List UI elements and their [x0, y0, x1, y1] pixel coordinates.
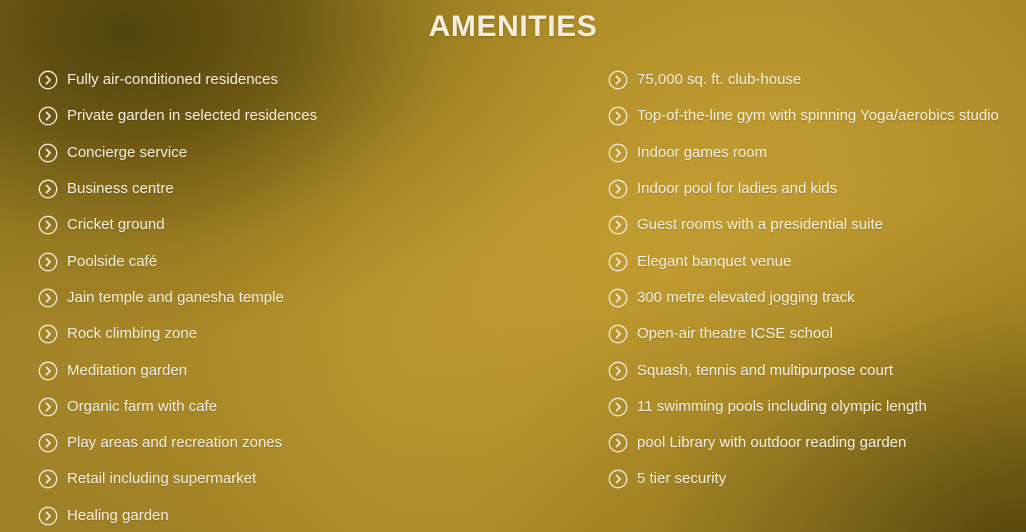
amenity-label: Private garden in selected residences [67, 107, 317, 125]
amenity-label: 300 metre elevated jogging track [637, 289, 855, 307]
circle-chevron-right-icon [608, 361, 628, 381]
circle-chevron-right-icon [38, 215, 58, 235]
circle-chevron-right-icon [38, 361, 58, 381]
amenity-label: Cricket ground [67, 216, 165, 234]
circle-chevron-right-icon [38, 106, 58, 126]
circle-chevron-right-icon [38, 252, 58, 272]
amenity-label: 5 tier security [637, 470, 726, 488]
amenity-label: Healing garden [67, 507, 169, 525]
circle-chevron-right-icon [38, 469, 58, 489]
circle-chevron-right-icon [608, 215, 628, 235]
amenity-label: Business centre [67, 180, 174, 198]
amenities-section: AMENITIES Fully air-conditioned residenc… [0, 0, 1026, 532]
amenity-label: pool Library with outdoor reading garden [637, 434, 906, 452]
amenities-column-left: Fully air-conditioned residencesPrivate … [38, 62, 578, 532]
amenity-label: Rock climbing zone [67, 325, 197, 343]
amenity-item[interactable]: Business centre [38, 171, 578, 207]
amenity-label: Retail including supermarket [67, 470, 256, 488]
amenity-label: 11 swimming pools including olympic leng… [637, 398, 927, 416]
circle-chevron-right-icon [608, 433, 628, 453]
circle-chevron-right-icon [608, 324, 628, 344]
amenity-item[interactable]: Open-air theatre ICSE school [608, 316, 1013, 352]
amenity-item[interactable]: 5 tier security [608, 461, 1013, 497]
amenity-label: Meditation garden [67, 362, 187, 380]
amenity-item[interactable]: Healing garden [38, 498, 578, 532]
amenity-item[interactable]: 11 swimming pools including olympic leng… [608, 389, 1013, 425]
amenity-label: 75,000 sq. ft. club-house [637, 71, 801, 89]
amenity-item[interactable]: 75,000 sq. ft. club-house [608, 62, 1013, 98]
amenity-item[interactable]: Fully air-conditioned residences [38, 62, 578, 98]
circle-chevron-right-icon [608, 252, 628, 272]
amenity-item[interactable]: Private garden in selected residences [38, 98, 578, 134]
circle-chevron-right-icon [38, 143, 58, 163]
circle-chevron-right-icon [38, 397, 58, 417]
amenity-item[interactable]: Indoor games room [608, 135, 1013, 171]
amenity-item[interactable]: Cricket ground [38, 207, 578, 243]
amenity-label: Play areas and recreation zones [67, 434, 282, 452]
amenity-item[interactable]: Top-of-the-line gym with spinning Yoga/a… [608, 98, 1013, 134]
amenity-item[interactable]: pool Library with outdoor reading garden [608, 425, 1013, 461]
amenity-item[interactable]: Rock climbing zone [38, 316, 578, 352]
page-title: AMENITIES [0, 10, 1026, 44]
amenity-item[interactable]: Retail including supermarket [38, 461, 578, 497]
amenity-item[interactable]: Organic farm with cafe [38, 389, 578, 425]
circle-chevron-right-icon [608, 106, 628, 126]
amenity-item[interactable]: Squash, tennis and multipurpose court [608, 352, 1013, 388]
amenity-item[interactable]: Poolside café [38, 243, 578, 279]
circle-chevron-right-icon [608, 397, 628, 417]
circle-chevron-right-icon [608, 469, 628, 489]
circle-chevron-right-icon [38, 506, 58, 526]
circle-chevron-right-icon [608, 288, 628, 308]
circle-chevron-right-icon [38, 179, 58, 199]
circle-chevron-right-icon [608, 179, 628, 199]
amenity-label: Poolside café [67, 253, 157, 271]
circle-chevron-right-icon [38, 324, 58, 344]
circle-chevron-right-icon [38, 433, 58, 453]
amenity-label: Jain temple and ganesha temple [67, 289, 284, 307]
amenity-label: Elegant banquet venue [637, 253, 791, 271]
amenity-label: Open-air theatre ICSE school [637, 325, 833, 343]
circle-chevron-right-icon [608, 143, 628, 163]
amenity-item[interactable]: Elegant banquet venue [608, 243, 1013, 279]
circle-chevron-right-icon [38, 288, 58, 308]
amenity-item[interactable]: Meditation garden [38, 352, 578, 388]
amenity-label: Concierge service [67, 144, 187, 162]
amenity-item[interactable]: Guest rooms with a presidential suite [608, 207, 1013, 243]
circle-chevron-right-icon [608, 70, 628, 90]
amenity-label: Guest rooms with a presidential suite [637, 216, 883, 234]
amenity-label: Squash, tennis and multipurpose court [637, 362, 893, 380]
amenity-label: Fully air-conditioned residences [67, 71, 278, 89]
amenity-item[interactable]: Jain temple and ganesha temple [38, 280, 578, 316]
amenity-label: Indoor games room [637, 144, 767, 162]
amenity-item[interactable]: 300 metre elevated jogging track [608, 280, 1013, 316]
amenity-label: Top-of-the-line gym with spinning Yoga/a… [637, 107, 999, 125]
amenity-label: Organic farm with cafe [67, 398, 217, 416]
amenity-item[interactable]: Concierge service [38, 135, 578, 171]
amenity-label: Indoor pool for ladies and kids [637, 180, 837, 198]
amenities-column-right: 75,000 sq. ft. club-houseTop-of-the-line… [608, 62, 1013, 498]
amenity-item[interactable]: Play areas and recreation zones [38, 425, 578, 461]
circle-chevron-right-icon [38, 70, 58, 90]
amenity-item[interactable]: Indoor pool for ladies and kids [608, 171, 1013, 207]
